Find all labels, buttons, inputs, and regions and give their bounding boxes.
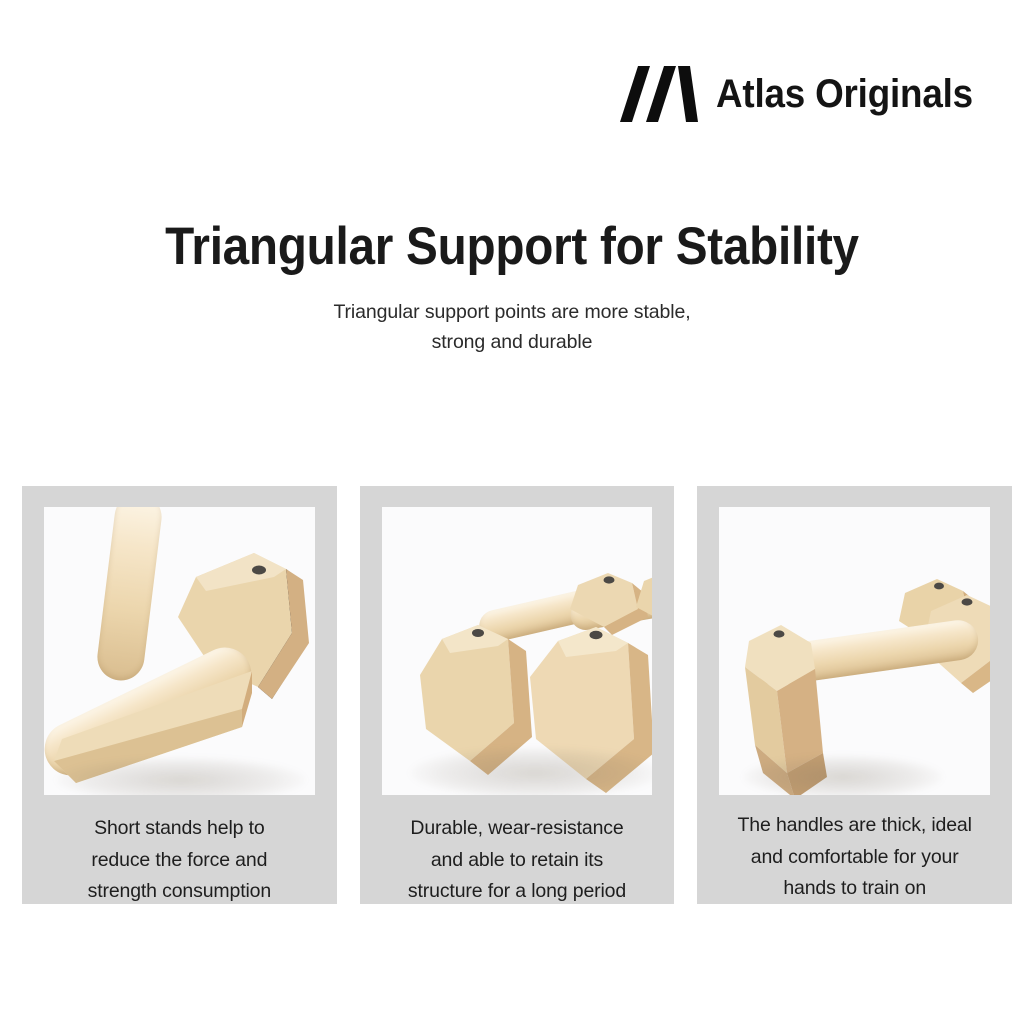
page-subtitle-line-1: Triangular support points are more stabl… xyxy=(0,298,1024,327)
product-photo-handle-side-view xyxy=(719,507,990,795)
feature-caption-line-1: The handles are thick, ideal xyxy=(710,810,999,842)
product-photo-parallette-pair xyxy=(382,507,653,795)
header-block: Triangular Support for Stability Triangu… xyxy=(0,218,1024,357)
feature-card-row: Short stands help to reduce the force an… xyxy=(22,486,1012,904)
page-subtitle: Triangular support points are more stabl… xyxy=(0,298,1024,357)
brand-name: Atlas Originals xyxy=(716,74,973,114)
feature-caption: The handles are thick, ideal and comfort… xyxy=(710,810,999,904)
feature-caption: Short stands help to reduce the force an… xyxy=(35,813,324,904)
page-subtitle-line-2: strong and durable xyxy=(0,328,1024,357)
feature-caption-line-2: reduce the force and xyxy=(35,845,324,877)
brand-logo: Atlas Originals xyxy=(620,66,995,122)
feature-caption-line-1: Short stands help to xyxy=(35,813,324,845)
feature-caption-line-2: and comfortable for your xyxy=(710,842,999,874)
feature-caption-line-3: strength consumption xyxy=(35,876,324,904)
feature-card: The handles are thick, ideal and comfort… xyxy=(697,486,1012,904)
page-title: Triangular Support for Stability xyxy=(51,218,973,276)
feature-caption: Durable, wear-resistance and able to ret… xyxy=(373,813,662,904)
product-photo-base-block-closeup xyxy=(44,507,315,795)
feature-caption-line-1: Durable, wear-resistance xyxy=(373,813,662,845)
feature-caption-line-2: and able to retain its xyxy=(373,845,662,877)
feature-caption-line-3: hands to train on xyxy=(710,873,999,904)
feature-card: Durable, wear-resistance and able to ret… xyxy=(360,486,675,904)
feature-caption-line-3: structure for a long period xyxy=(373,876,662,904)
atlas-chevron-mark-icon xyxy=(620,66,698,122)
feature-card: Short stands help to reduce the force an… xyxy=(22,486,337,904)
